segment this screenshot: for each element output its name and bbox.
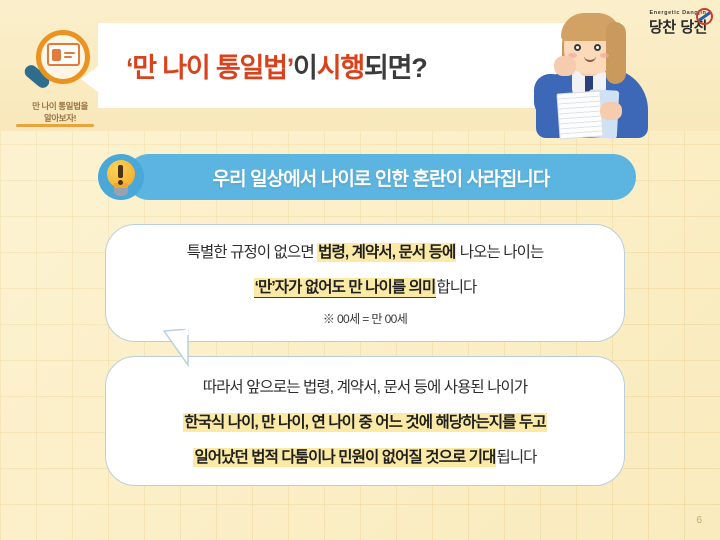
plain-text: 따라서 앞으로는 법령, 계약서, 문서 등에 사용된 나이가 [203, 379, 528, 396]
content-line: 특별한 규정이 없으면 법령, 계약서, 문서 등에 나오는 나이는 [187, 240, 544, 262]
content-box-first: 특별한 규정이 없으면 법령, 계약서, 문서 등에 나오는 나이는‘만’자가 … [105, 224, 625, 342]
id-card-lines [64, 52, 75, 58]
highlighted-text: ‘만’자가 없어도 만 나이를 의미 [254, 278, 437, 298]
logo-caption-line-1: 알아보자! [18, 112, 102, 124]
content-line: ‘만’자가 없어도 만 나이를 의미합니다 [254, 275, 477, 297]
id-card-portrait [52, 49, 61, 61]
page-title-segment-0: ‘만 나이 통일법’ [126, 46, 293, 85]
page-title-segment-3: 되면? [364, 46, 427, 85]
highlighted-text: 일어났던 법적 다툼이나 민원이 없어질 것으로 기대 [193, 448, 496, 467]
plain-text: 됩니다 [496, 449, 536, 466]
content-note: ※ 00세 = 만 00세 [323, 310, 407, 327]
id-card-icon [47, 43, 80, 66]
content-line: 따라서 앞으로는 법령, 계약서, 문서 등에 사용된 나이가 [203, 375, 528, 397]
highlighted-text: 한국식 나이, 만 나이, 연 나이 중 어느 것에 해당하는지를 두고 [183, 413, 547, 432]
header-band: 만 나이 통일법을알아보자! ‘만 나이 통일법’이 시행되면? Energet… [0, 0, 720, 131]
content-box-second: 따라서 앞으로는 법령, 계약서, 문서 등에 사용된 나이가한국식 나이, 만… [105, 356, 625, 486]
section-banner-pill: 우리 일상에서 나이로 인한 혼란이 사라집니다 [126, 154, 636, 200]
highlighted-text: 법령, 계약서, 문서 등에 [317, 243, 456, 262]
topic-logo-caption: 만 나이 통일법을알아보자! [18, 100, 102, 125]
section-banner-text: 우리 일상에서 나이로 인한 혼란이 사라집니다 [213, 164, 550, 191]
dangjin-brand-logo: Energetic Dangjin 당찬 당진 [645, 10, 711, 37]
page-title: ‘만 나이 통일법’이 시행되면? [126, 23, 427, 108]
page-title-segment-1: 이 [293, 46, 317, 85]
page-number: 6 [696, 515, 702, 526]
speech-bubble-tail [163, 329, 189, 367]
plain-text: 특별한 규정이 없으면 [187, 244, 317, 261]
page-title-segment-2: 시행 [317, 46, 364, 85]
plain-text: 나오는 나이는 [456, 244, 543, 261]
logo-caption-line-0: 만 나이 통일법을 [18, 100, 102, 112]
lightbulb-exclamation-icon [96, 152, 148, 204]
dangjin-emblem-icon [696, 8, 713, 25]
content-line: 일어났던 법적 다툼이나 민원이 없어질 것으로 기대됩니다 [193, 445, 536, 467]
plain-text: 합니다 [436, 279, 476, 296]
section-banner: 우리 일상에서 나이로 인한 혼란이 사라집니다 [96, 154, 636, 202]
topic-logo-underline [16, 124, 94, 127]
content-line: 한국식 나이, 만 나이, 연 나이 중 어느 것에 해당하는지를 두고 [183, 410, 547, 432]
presenter-illustration [528, 6, 654, 131]
